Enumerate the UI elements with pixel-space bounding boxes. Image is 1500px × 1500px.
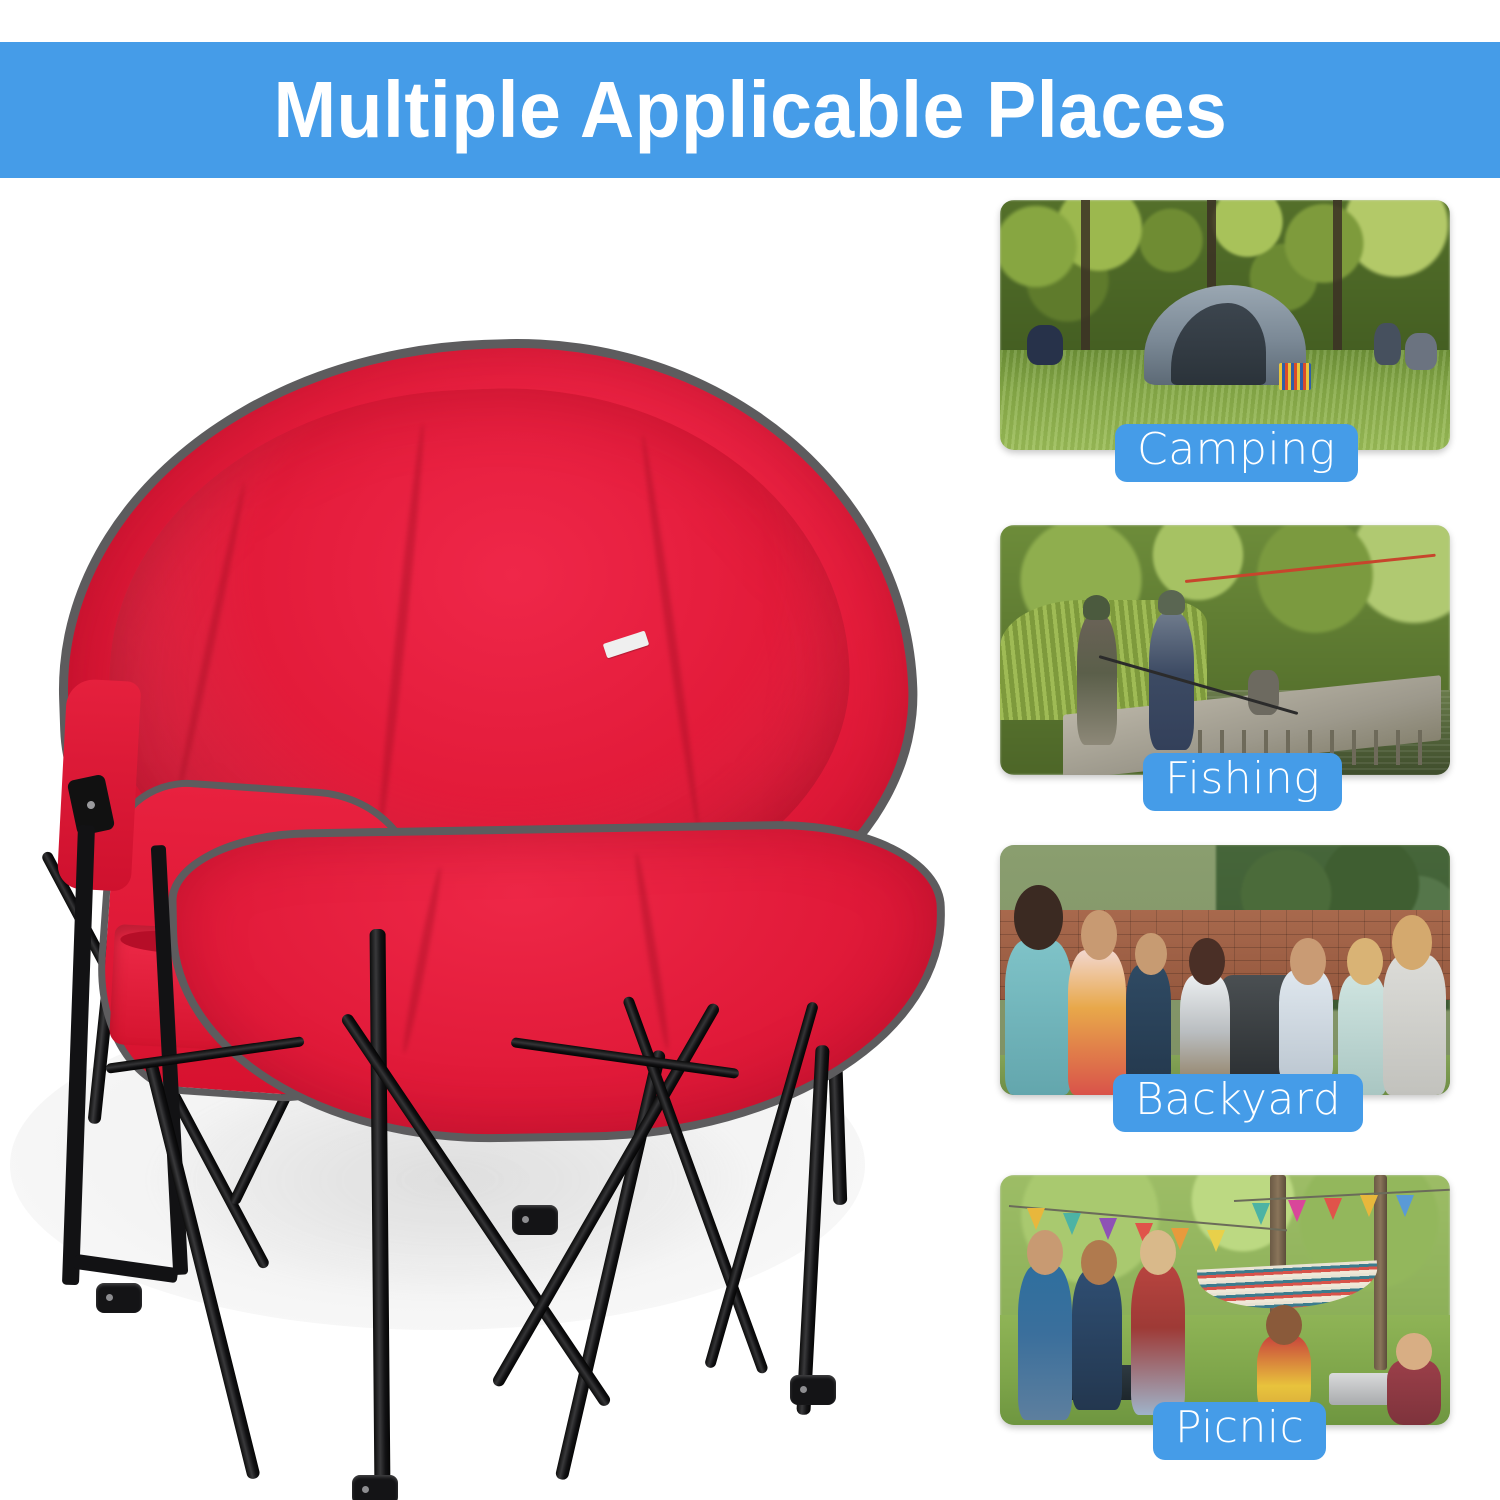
tile-backyard[interactable]: Backyard xyxy=(1000,845,1450,1095)
tree-trunk xyxy=(1081,200,1090,350)
picnic-photo xyxy=(1000,1175,1450,1425)
camper-left xyxy=(1027,325,1063,365)
pennant-flag xyxy=(1207,1230,1225,1252)
guest-5 xyxy=(1279,970,1333,1080)
backyard-photo xyxy=(1000,845,1450,1095)
frame-right-outer-leg xyxy=(796,1045,829,1415)
camping-photo xyxy=(1000,200,1450,450)
picnic-person-3-head xyxy=(1140,1230,1176,1275)
guest-1 xyxy=(1005,940,1073,1095)
foot-rear xyxy=(512,1205,558,1235)
picnic-person-3 xyxy=(1131,1265,1185,1415)
carry-strap-bottom xyxy=(73,1254,178,1283)
boombox xyxy=(1329,1373,1392,1406)
tile-label-backyard: Backyard xyxy=(1113,1074,1363,1132)
seat-seam-1 xyxy=(400,866,445,1054)
guest-2-apron xyxy=(1068,950,1127,1095)
pennant-flag xyxy=(1063,1213,1081,1235)
picnic-person-1-head xyxy=(1027,1230,1063,1275)
foot-front-center xyxy=(352,1475,398,1500)
guest-6-head xyxy=(1347,938,1383,986)
picnic-person-phone-head xyxy=(1396,1333,1432,1371)
page-title: Multiple Applicable Places xyxy=(273,70,1227,150)
guest-7-head xyxy=(1392,915,1433,970)
fishing-photo xyxy=(1000,525,1450,775)
angler-two-head xyxy=(1158,590,1185,615)
angler-one xyxy=(1077,615,1118,745)
guest-4-head xyxy=(1189,938,1225,986)
use-case-tile-list: Camping Fishing xyxy=(1000,200,1450,1500)
guest-2-head xyxy=(1081,910,1117,960)
camper-right-a xyxy=(1374,323,1401,366)
tile-picnic[interactable]: Picnic xyxy=(1000,1175,1450,1425)
guest-3 xyxy=(1126,965,1171,1085)
product-image xyxy=(0,185,960,1500)
picnic-person-2 xyxy=(1072,1270,1122,1410)
guest-4 xyxy=(1180,975,1230,1090)
camper-right-b xyxy=(1405,333,1437,371)
header-banner: Multiple Applicable Places xyxy=(0,42,1500,178)
foot-left xyxy=(96,1283,142,1313)
tile-label-fishing: Fishing xyxy=(1143,753,1342,811)
tile-label-picnic: Picnic xyxy=(1153,1402,1326,1460)
guest-7 xyxy=(1383,955,1446,1095)
pennant-flag xyxy=(1324,1198,1342,1220)
pennant-flag xyxy=(1099,1218,1117,1240)
striped-cooler xyxy=(1279,363,1311,391)
angler-one-head xyxy=(1083,595,1110,620)
picnic-person-seated-head xyxy=(1266,1305,1302,1345)
pennant-flag xyxy=(1360,1195,1378,1217)
picnic-person-2-head xyxy=(1081,1240,1117,1285)
pennant-flag xyxy=(1027,1208,1045,1230)
pennant-flag xyxy=(1396,1195,1414,1217)
pennant-flag xyxy=(1252,1203,1270,1225)
camping-chair-illustration xyxy=(0,185,960,1500)
infographic-page: Multiple Applicable Places xyxy=(0,0,1500,1500)
pennant-flag xyxy=(1288,1200,1306,1222)
tile-label-camping: Camping xyxy=(1115,424,1358,482)
guest-5-head xyxy=(1290,938,1326,986)
guest-1-head xyxy=(1014,885,1064,950)
guest-3-head xyxy=(1135,933,1167,976)
foot-right xyxy=(790,1375,836,1405)
tree-trunk xyxy=(1333,200,1342,355)
tile-camping[interactable]: Camping xyxy=(1000,200,1450,450)
tile-fishing[interactable]: Fishing xyxy=(1000,525,1450,775)
picnic-person-1 xyxy=(1018,1265,1072,1420)
